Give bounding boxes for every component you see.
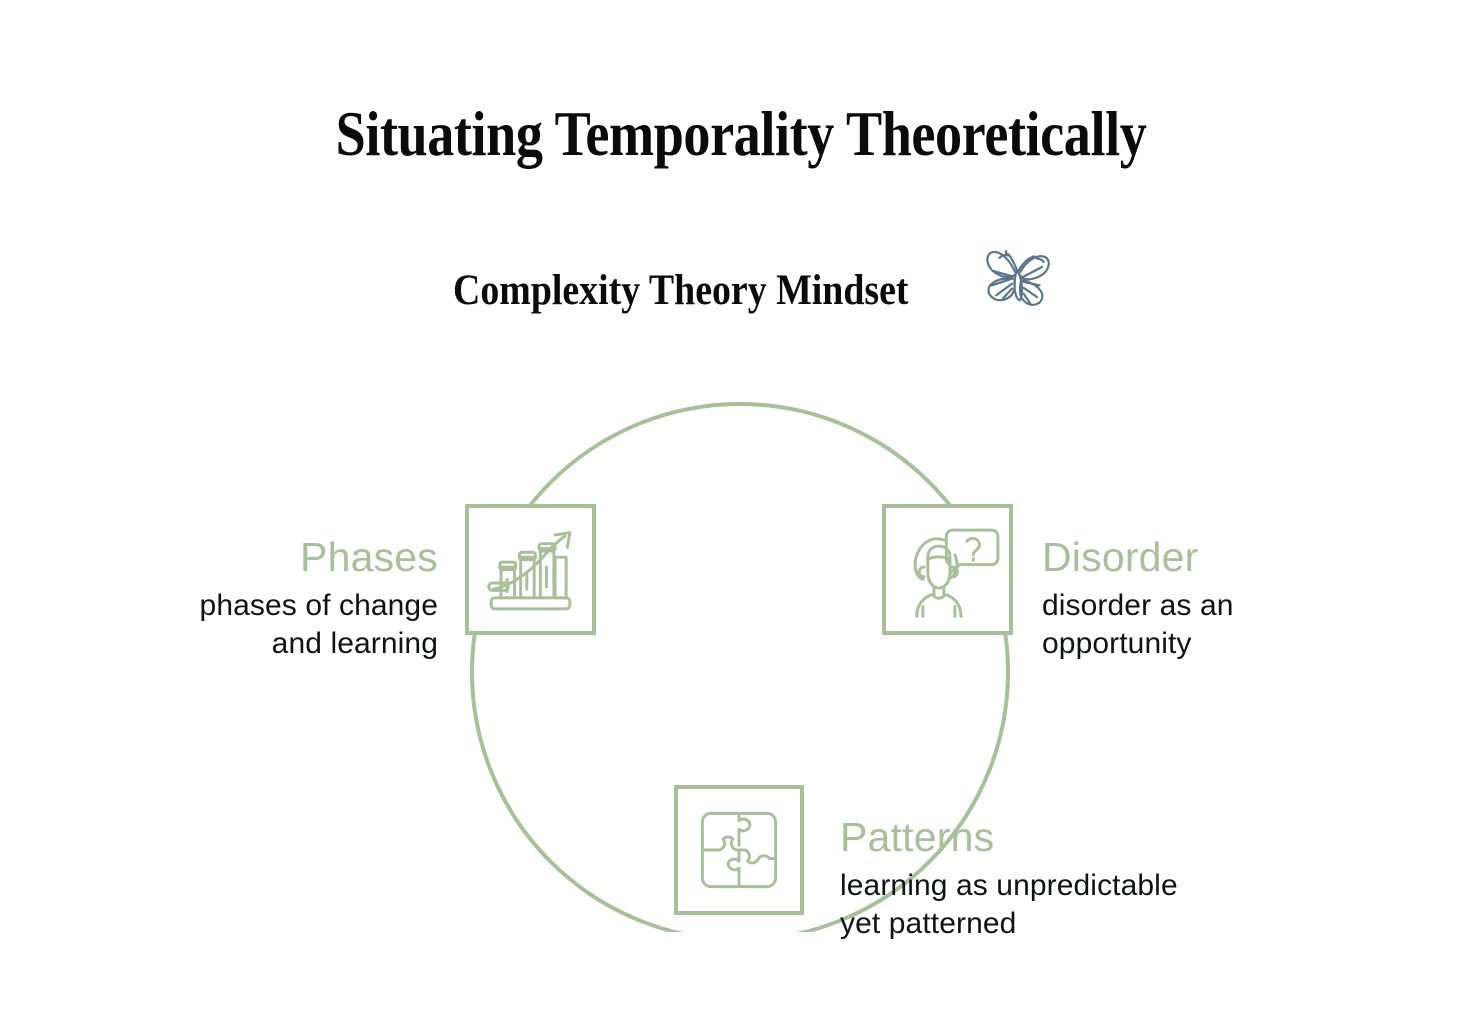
page-subtitle: Complexity Theory Mindset: [453, 269, 908, 312]
description-line: disorder as an: [1042, 587, 1422, 625]
label-group-disorder: Disorder disorder as an opportunity: [1042, 535, 1422, 664]
heading-disorder: Disorder: [1042, 535, 1422, 581]
slide-canvas: Situating Temporality Theoretically Comp…: [0, 0, 1482, 1015]
heading-phases: Phases: [60, 535, 438, 581]
node-box-phases[interactable]: [465, 504, 596, 635]
growth-chart-icon: [469, 508, 592, 631]
node-box-patterns[interactable]: [674, 785, 804, 915]
subtitle-row: Complexity Theory Mindset: [0, 258, 1482, 322]
heading-patterns: Patterns: [840, 815, 1340, 861]
description-line: and learning: [60, 625, 438, 663]
node-box-disorder[interactable]: [882, 504, 1013, 635]
label-group-patterns: Patterns learning as unpredictable yet p…: [840, 815, 1340, 944]
description-line: phases of change: [60, 587, 438, 625]
description-patterns: learning as unpredictable yet patterned: [840, 867, 1340, 944]
description-phases: phases of change and learning: [60, 587, 438, 664]
description-line: yet patterned: [840, 905, 1340, 943]
description-line: opportunity: [1042, 625, 1422, 663]
person-question-icon: [886, 508, 1009, 631]
description-line: learning as unpredictable: [840, 867, 1340, 905]
butterfly-icon: [974, 242, 1060, 322]
label-group-phases: Phases phases of change and learning: [60, 535, 438, 664]
page-title: Situating Temporality Theoretically: [104, 103, 1379, 166]
description-disorder: disorder as an opportunity: [1042, 587, 1422, 664]
puzzle-icon: [678, 789, 800, 911]
